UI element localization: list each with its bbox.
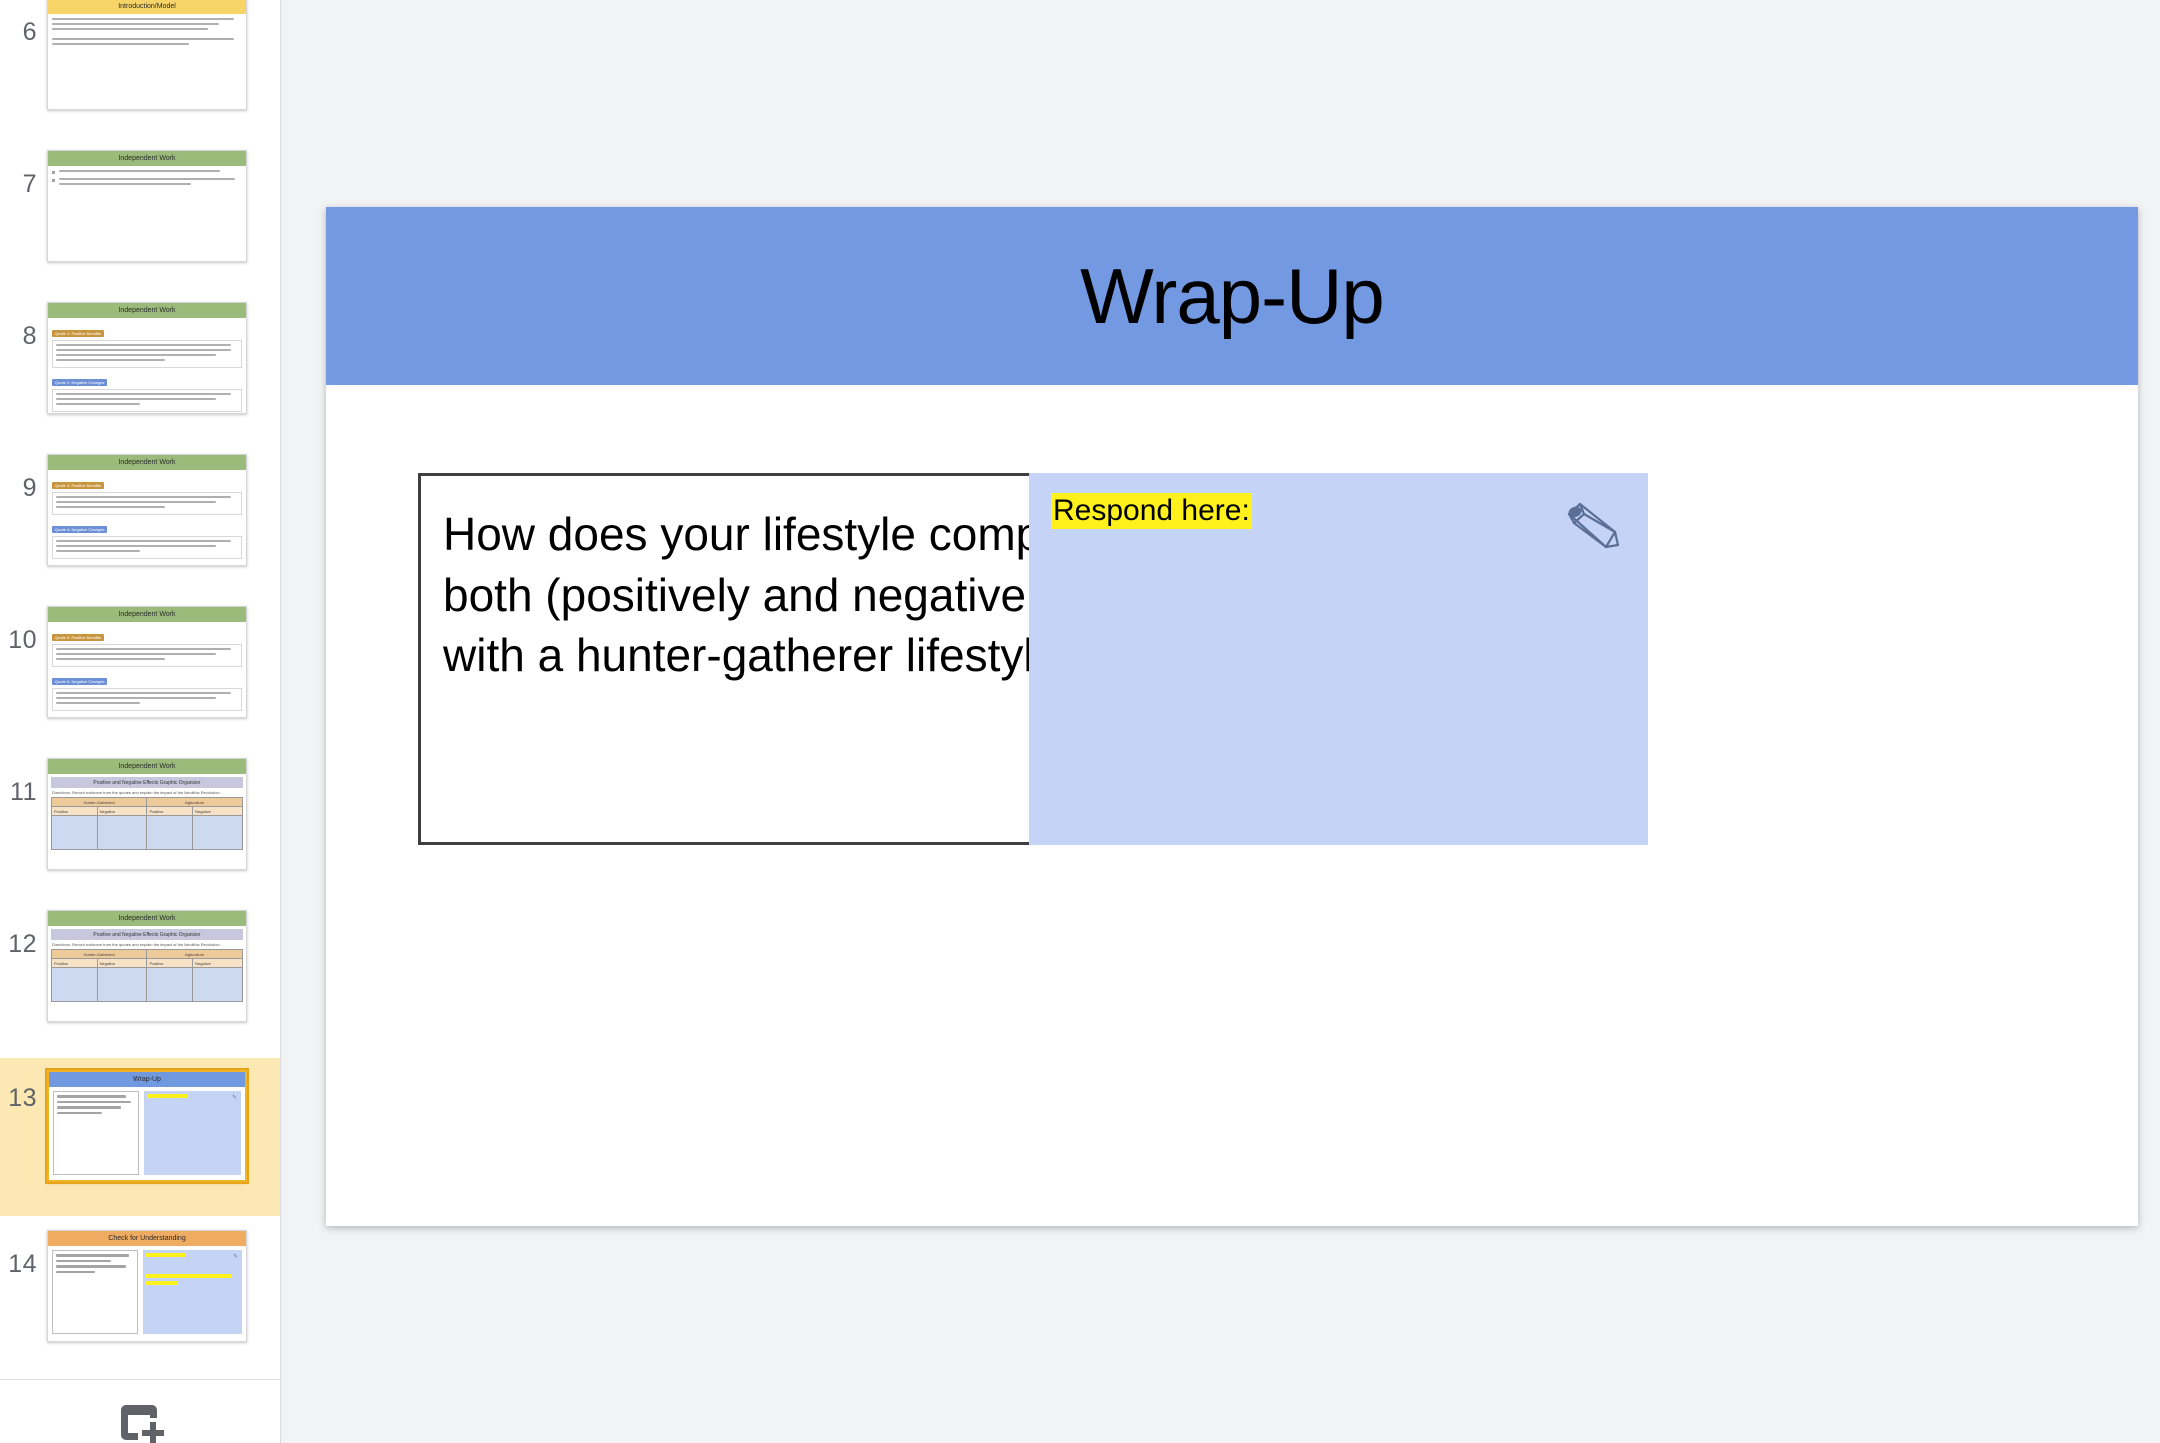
slide-number: 8 xyxy=(0,298,47,349)
thumb-title: Independent Work xyxy=(48,151,246,166)
group-header: Hunter-Gatherers xyxy=(52,798,147,807)
slide-thumbnail[interactable]: Independent Work Positive and Negative E… xyxy=(47,758,247,870)
thumb-title: Independent Work xyxy=(48,911,246,926)
thumb-question-box xyxy=(53,1091,139,1175)
group-header: Agriculture xyxy=(147,950,243,959)
column-header: Positive xyxy=(52,959,98,968)
table-row: Positive Negative Positive Negative xyxy=(52,807,243,816)
filmstrip-slide-8[interactable]: 8 Independent Work Quote 1: Positive Ben… xyxy=(0,298,281,440)
table-row: Hunter-Gatherers Agriculture xyxy=(52,798,243,807)
add-slide-button[interactable] xyxy=(110,1398,172,1443)
filmstrip-slide-6[interactable]: 6 Introduction/Model xyxy=(0,0,281,136)
column-header: Positive xyxy=(147,807,193,816)
quote-tag: Quote 6: Negative Changes xyxy=(52,678,107,685)
table-cell xyxy=(147,968,193,1002)
slide-thumbnail[interactable]: Independent Work Quote 5: Positive Benef… xyxy=(47,606,247,718)
slide-number: 12 xyxy=(0,906,47,957)
table-cell xyxy=(97,816,147,850)
column-header: Negative xyxy=(97,807,147,816)
filmstrip-slide-9[interactable]: 9 Independent Work Quote 3: Positive Ben… xyxy=(0,450,281,592)
filmstrip-divider xyxy=(0,1379,281,1380)
slide-number: 6 xyxy=(0,0,47,45)
filmstrip-scroll-area[interactable]: 6 Introduction/Model 7 xyxy=(0,0,281,1380)
filmstrip-slide-13[interactable]: 13 Wrap-Up xyxy=(0,1058,281,1216)
filmstrip-slide-10[interactable]: 10 Independent Work Quote 5: Positive Be… xyxy=(0,602,281,744)
thumb-body: Quote 5: Positive Benefits Quote 6: Nega… xyxy=(48,622,246,717)
thumb-title: Wrap-Up xyxy=(49,1072,245,1087)
thumbnail-shell[interactable]: Independent Work xyxy=(47,146,247,262)
table-row xyxy=(52,968,243,1002)
slide-number: 11 xyxy=(0,754,47,805)
thumbnail-shell[interactable]: Independent Work Positive and Negative E… xyxy=(47,754,247,870)
quote-tag: Quote 1: Positive Benefits xyxy=(52,330,104,337)
thumb-question-box xyxy=(52,1250,138,1334)
add-slide-icon xyxy=(117,1404,165,1443)
slide-number: 14 xyxy=(0,1226,47,1277)
thumb-title: Check for Understanding xyxy=(48,1231,246,1246)
thumbnail-shell[interactable]: Independent Work Quote 3: Positive Benef… xyxy=(47,450,247,566)
thumb-body: Quote 3: Positive Benefits Quote 4: Nega… xyxy=(48,470,246,565)
table-row xyxy=(52,816,243,850)
respond-here-label: Respond here: xyxy=(1051,493,1252,529)
table-cell xyxy=(52,968,98,1002)
quote-tag: Quote 5: Positive Benefits xyxy=(52,634,104,641)
organizer-title: Positive and Negative Effects Graphic Or… xyxy=(51,929,243,940)
slide-number: 9 xyxy=(0,450,47,501)
group-header: Hunter-Gatherers xyxy=(52,950,147,959)
thumb-answer-highlight xyxy=(146,1274,232,1278)
thumbnail-shell[interactable]: Independent Work Quote 5: Positive Benef… xyxy=(47,602,247,718)
quote-tag: Quote 2: Negative Changes xyxy=(52,379,107,386)
slide-thumbnail[interactable]: Independent Work Quote 3: Positive Benef… xyxy=(47,454,247,566)
organizer-table: Hunter-Gatherers Agriculture Positive Ne… xyxy=(51,949,243,1002)
column-header: Negative xyxy=(97,959,147,968)
slide-thumbnail[interactable]: Independent Work xyxy=(47,150,247,262)
quote-tag: Quote 3: Positive Benefits xyxy=(52,482,104,489)
organizer-instruction: Directions: Record evidence from the quo… xyxy=(51,940,243,949)
thumb-answer-highlight xyxy=(146,1281,178,1285)
slide-number: 13 xyxy=(0,1066,47,1111)
thumb-body: ✎ xyxy=(49,1087,245,1179)
filmstrip-slide-11[interactable]: 11 Independent Work Positive and Negativ… xyxy=(0,754,281,896)
pencil-icon: ✎ xyxy=(233,1253,238,1260)
thumb-title: Independent Work xyxy=(48,303,246,318)
bullet-icon xyxy=(52,179,55,182)
organizer-title: Positive and Negative Effects Graphic Or… xyxy=(51,777,243,788)
thumb-title: Independent Work xyxy=(48,455,246,470)
group-header: Agriculture xyxy=(147,798,243,807)
column-header: Negative xyxy=(193,959,243,968)
thumb-body: Quote 1: Positive Benefits Quote 2: Nega… xyxy=(48,318,246,414)
thumb-respond-box: ✎ xyxy=(144,1091,241,1175)
thumbnail-shell[interactable]: Independent Work Quote 1: Positive Benef… xyxy=(47,298,247,414)
thumb-title: Independent Work xyxy=(48,759,246,774)
thumb-respond-highlight xyxy=(147,1094,187,1098)
column-header: Negative xyxy=(193,807,243,816)
slide-thumbnail[interactable]: Wrap-Up ✎ xyxy=(47,1070,247,1182)
pencil-icon: ✎ xyxy=(232,1094,237,1101)
table-cell xyxy=(193,968,243,1002)
table-cell xyxy=(193,816,243,850)
organizer-instruction: Directions: Record evidence from the quo… xyxy=(51,788,243,797)
slide-thumbnail[interactable]: Independent Work Quote 1: Positive Benef… xyxy=(47,302,247,414)
page-title: Wrap-Up xyxy=(1080,251,1384,342)
slide-thumbnail[interactable]: Introduction/Model xyxy=(47,0,247,110)
table-row: Hunter-Gatherers Agriculture xyxy=(52,950,243,959)
slide-thumbnail[interactable]: Independent Work Positive and Negative E… xyxy=(47,910,247,1022)
thumbnail-shell[interactable]: Introduction/Model xyxy=(47,0,247,110)
slide-title-banner[interactable]: Wrap-Up xyxy=(326,207,2138,385)
filmstrip-slide-14[interactable]: 14 Check for Understanding xyxy=(0,1226,281,1368)
slide-thumbnail[interactable]: Check for Understanding xyxy=(47,1230,247,1342)
thumb-title: Introduction/Model xyxy=(48,0,246,14)
column-header: Positive xyxy=(147,959,193,968)
slide-number: 7 xyxy=(0,146,47,197)
thumb-body: Positive and Negative Effects Graphic Or… xyxy=(48,774,246,853)
table-cell xyxy=(147,816,193,850)
thumb-body: ✎ xyxy=(48,1246,246,1338)
presentation-editor: 6 Introduction/Model 7 xyxy=(0,0,2160,1443)
filmstrip-slide-7[interactable]: 7 Independent Work xyxy=(0,146,281,288)
respond-textbox[interactable]: Respond here: xyxy=(1029,473,1648,845)
current-slide[interactable]: Wrap-Up How does your lifestyle compare … xyxy=(326,207,2138,1226)
column-header: Positive xyxy=(52,807,98,816)
slide-filmstrip-panel[interactable]: 6 Introduction/Model 7 xyxy=(0,0,281,1443)
thumbnail-shell[interactable]: Check for Understanding xyxy=(47,1226,247,1342)
slide-number: 10 xyxy=(0,602,47,653)
bullet-icon xyxy=(52,171,55,174)
quote-tag: Quote 4: Negative Changes xyxy=(52,526,107,533)
thumb-body: Positive and Negative Effects Graphic Or… xyxy=(48,926,246,1005)
pencil-icon xyxy=(1560,499,1624,557)
table-row: Positive Negative Positive Negative xyxy=(52,959,243,968)
thumb-respond-box: ✎ xyxy=(143,1250,242,1334)
thumb-body xyxy=(48,166,246,194)
thumb-body xyxy=(48,14,246,51)
table-cell xyxy=(97,968,147,1002)
filmstrip-slide-12[interactable]: 12 Independent Work Positive and Negativ… xyxy=(0,906,281,1048)
table-cell xyxy=(52,816,98,850)
thumbnail-shell[interactable]: Independent Work Positive and Negative E… xyxy=(47,906,247,1022)
thumb-respond-highlight xyxy=(146,1253,186,1257)
thumb-title: Independent Work xyxy=(48,607,246,622)
thumbnail-shell[interactable]: Wrap-Up ✎ xyxy=(47,1066,247,1182)
organizer-table: Hunter-Gatherers Agriculture Positive Ne… xyxy=(51,797,243,850)
slide-canvas-area[interactable]: Wrap-Up How does your lifestyle compare … xyxy=(281,0,2160,1443)
